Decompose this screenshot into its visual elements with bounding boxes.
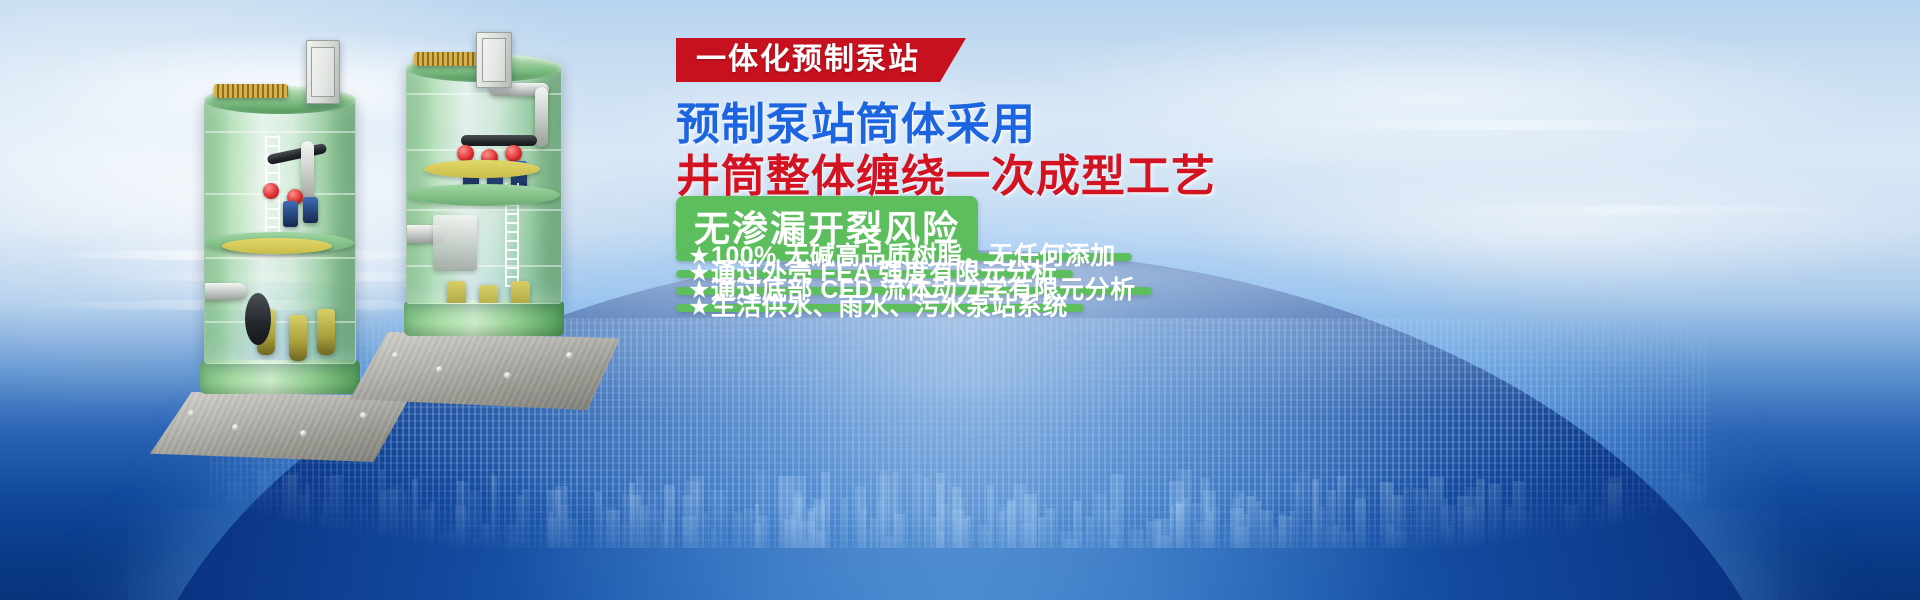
cabinet-door: [482, 38, 506, 81]
product-category-tag: 一体化预制泵站: [676, 38, 966, 82]
text-panel: 一体化预制泵站 预制泵站筒体采用 井筒整体缠绕一次成型工艺 无渗漏开裂风险 ★1…: [668, 38, 1848, 568]
control-cabinet: [306, 40, 340, 104]
riser-pipe: [535, 87, 548, 147]
work-platform: [222, 238, 332, 254]
cabinet-door: [311, 47, 334, 97]
list-item: ★生活供水、雨水、污水泵站系统: [676, 304, 1084, 312]
work-platform: [424, 160, 540, 178]
submersible-pump: [479, 285, 498, 304]
pump-motor: [303, 197, 318, 223]
headline-line-2: 井筒整体缠绕一次成型工艺: [676, 140, 1216, 204]
valve-handwheel: [263, 183, 279, 199]
submersible-pump: [289, 315, 307, 361]
tank-shell: [204, 96, 356, 364]
internal-screen: [433, 215, 477, 271]
pump-motor: [283, 201, 298, 227]
concrete-pad: [350, 332, 620, 410]
intermediate-platform: [408, 184, 560, 206]
inlet-pipe: [204, 283, 247, 300]
discharge-manifold: [461, 135, 537, 146]
access-grate: [214, 84, 288, 98]
concrete-pad: [150, 392, 410, 462]
submersible-pump: [317, 309, 335, 355]
product-banner: 一体化预制泵站 预制泵站筒体采用 井筒整体缠绕一次成型工艺 无渗漏开裂风险 ★1…: [0, 0, 1920, 600]
tank-base-flange: [404, 300, 564, 336]
submersible-pump: [511, 281, 530, 304]
feature-list: ★100% 无碱高品质树脂，无任何添加 ★通过外壳 FEA 强度有限元分析 ★通…: [676, 253, 1152, 321]
tank-base-flange: [200, 360, 360, 394]
control-cabinet: [476, 32, 512, 88]
tank-shell: [406, 62, 562, 304]
valve-handwheel: [505, 145, 522, 162]
suction-pipe: [245, 293, 271, 345]
submersible-pump: [447, 281, 466, 304]
